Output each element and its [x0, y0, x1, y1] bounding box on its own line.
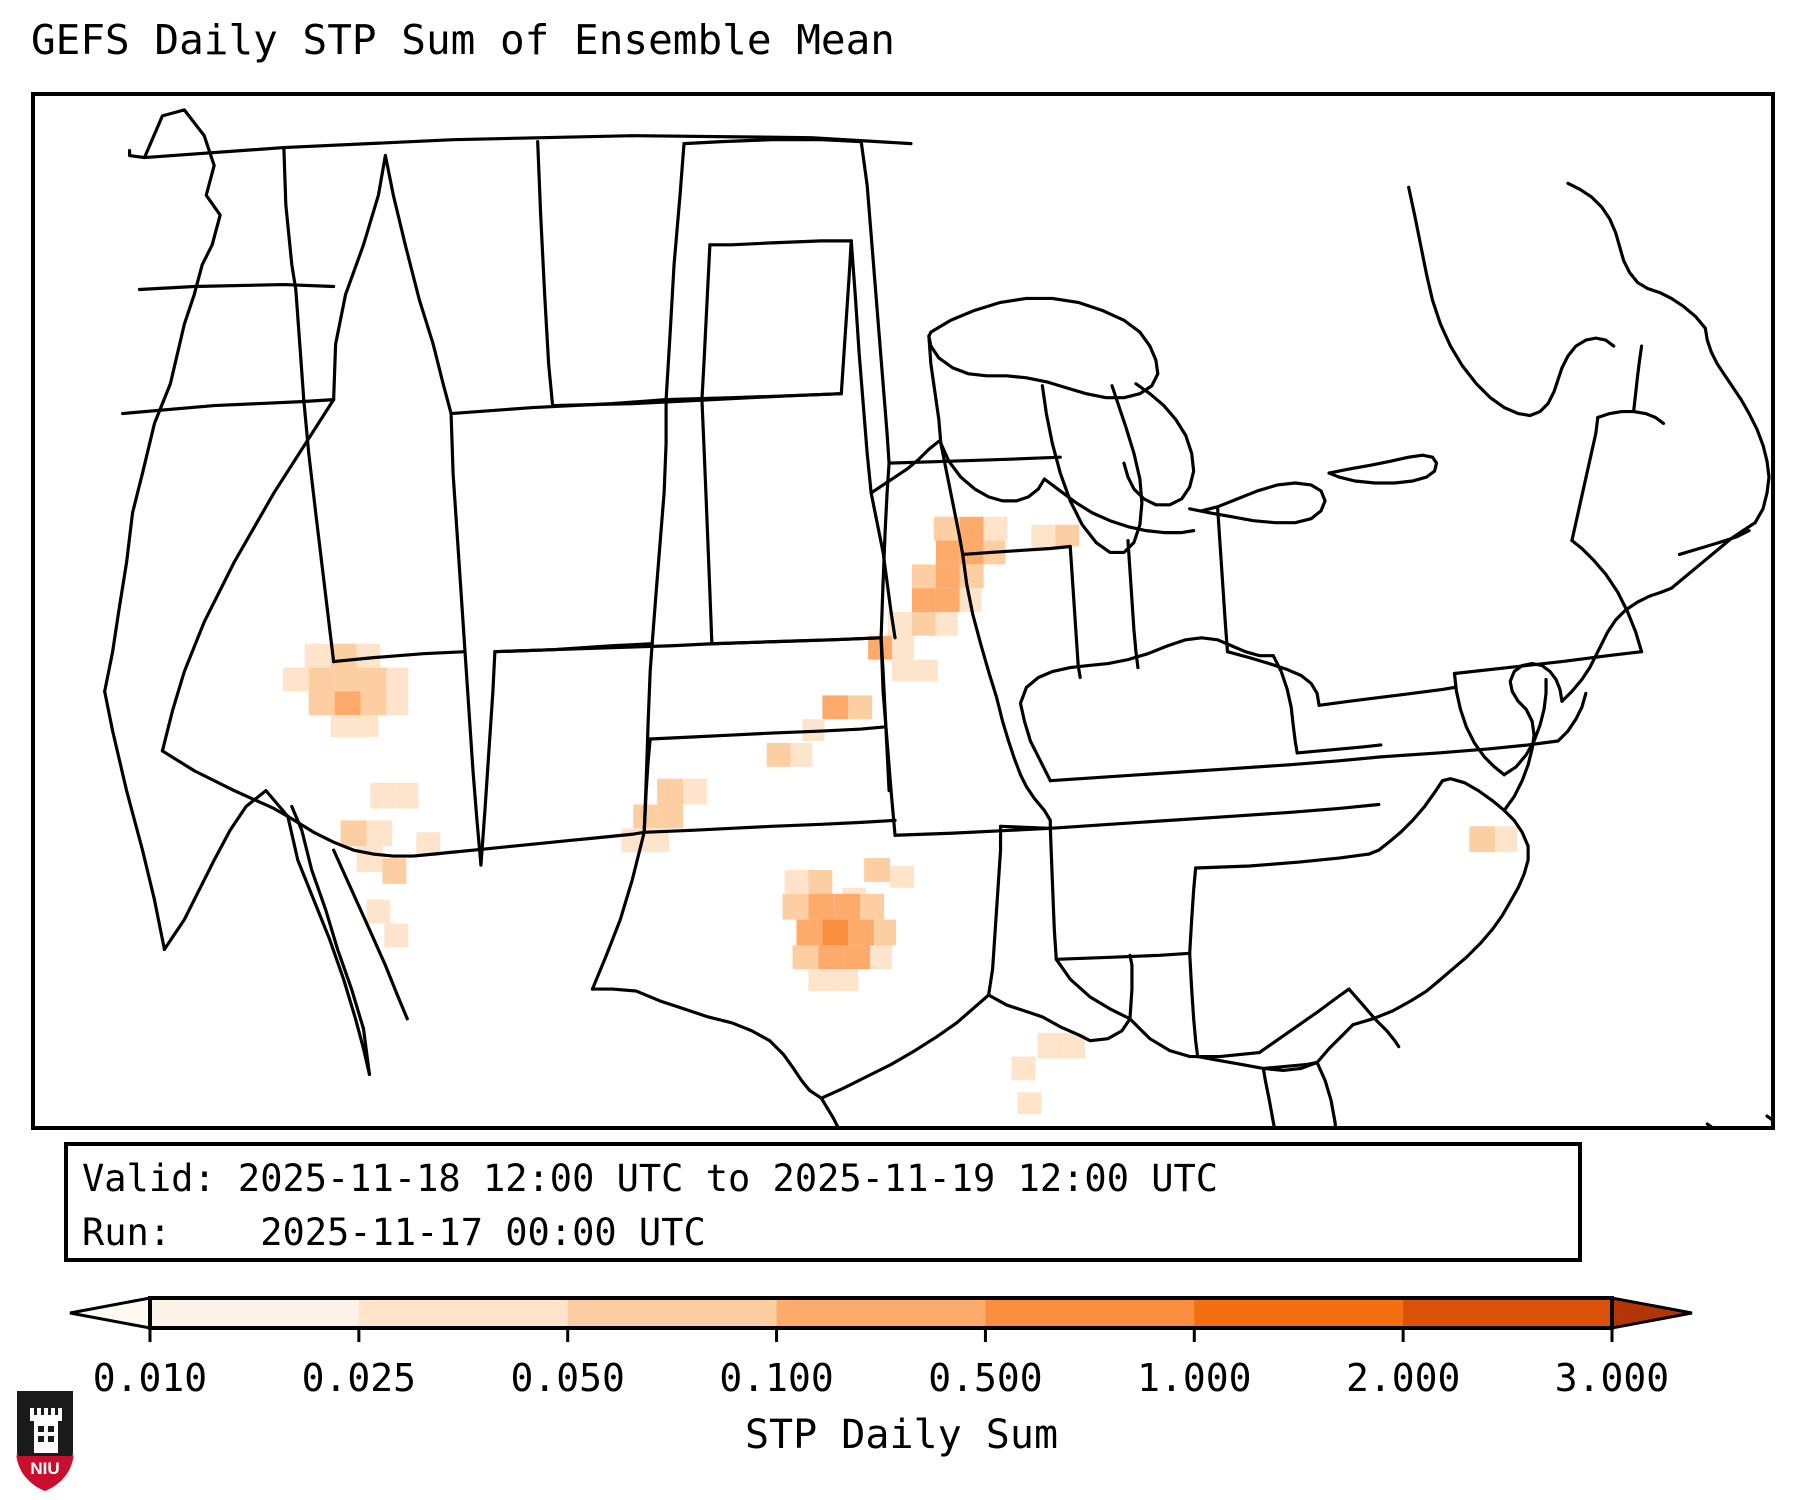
data-cell: [912, 588, 936, 612]
data-cell: [808, 870, 832, 894]
colorbar-extend-low: [70, 1298, 150, 1328]
colorbar: [0, 1290, 1803, 1350]
data-cell: [386, 691, 408, 715]
data-cell: [382, 858, 406, 884]
data-cell: [892, 660, 916, 682]
colorbar-label: STP Daily Sum: [0, 1412, 1803, 1458]
map-panel: [31, 92, 1775, 1130]
colorbar-band: [777, 1298, 986, 1328]
data-cell: [783, 894, 809, 920]
data-cell: [808, 894, 834, 920]
data-cell: [834, 969, 858, 991]
data-cell: [936, 588, 960, 612]
data-cell: [361, 668, 387, 692]
colorbar-tick-label: 0.100: [687, 1356, 867, 1400]
data-cell: [912, 612, 936, 636]
data-cell: [370, 783, 396, 809]
data-cell: [808, 969, 834, 991]
data-cell: [341, 820, 367, 846]
data-cell: [366, 900, 390, 924]
data-cell: [1037, 1033, 1063, 1059]
data-cell: [984, 517, 1008, 541]
data-cell: [834, 894, 860, 920]
niu-wordmark: NIU: [30, 1459, 59, 1478]
colorbar-tick-label: 3.000: [1522, 1356, 1702, 1400]
colorbar-svg: [0, 1290, 1803, 1352]
colorbar-band: [359, 1298, 568, 1328]
data-cell: [916, 660, 938, 682]
data-cell: [1055, 525, 1079, 547]
data-cell: [384, 924, 408, 948]
data-cell: [309, 668, 335, 692]
data-cell: [331, 715, 355, 737]
colorbar-band: [568, 1298, 777, 1328]
data-cell: [331, 644, 357, 668]
data-cell: [767, 743, 791, 767]
colorbar-tick-label: 2.000: [1313, 1356, 1493, 1400]
data-cell: [848, 695, 872, 719]
colorbar-extend-high: [1612, 1298, 1692, 1328]
data-cell: [860, 894, 884, 920]
data-cell: [1031, 525, 1055, 549]
page-title: GEFS Daily STP Sum of Ensemble Mean: [31, 16, 895, 64]
colorbar-band: [1194, 1298, 1403, 1328]
data-cell: [386, 668, 408, 692]
valid-time-line: Valid: 2025-11-18 12:00 UTC to 2025-11-1…: [82, 1152, 1564, 1206]
data-cell: [936, 564, 960, 588]
colorbar-band: [1403, 1298, 1612, 1328]
data-cell: [822, 695, 848, 719]
niu-logo: NIU: [14, 1388, 76, 1493]
data-cell: [936, 612, 958, 636]
data-cell: [335, 691, 361, 715]
colorbar-ticks: [150, 1328, 1612, 1342]
run-time-line: Run: 2025-11-17 00:00 UTC: [82, 1206, 1564, 1260]
data-cell: [785, 870, 809, 894]
map-svg: [35, 96, 1771, 1126]
colorbar-band: [985, 1298, 1194, 1328]
data-cell: [396, 783, 418, 809]
data-cell: [960, 517, 984, 541]
colorbar-bands: [70, 1298, 1692, 1328]
data-cell: [657, 779, 683, 805]
data-cell: [1469, 826, 1495, 852]
data-cell: [657, 804, 683, 828]
data-cell: [1012, 1057, 1036, 1081]
data-cell: [793, 945, 819, 969]
map-canvas: [35, 96, 1771, 1126]
data-cell: [366, 820, 392, 846]
data-cell: [1495, 826, 1517, 852]
data-cell: [912, 564, 936, 588]
data-cell: [357, 644, 381, 668]
data-cell: [890, 866, 914, 888]
data-cell: [936, 541, 960, 565]
data-cell: [1017, 1092, 1041, 1114]
data-cell: [355, 715, 379, 737]
data-cell: [683, 779, 707, 805]
data-cell: [309, 691, 335, 715]
data-cell: [283, 668, 309, 692]
colorbar-tick-label: 0.010: [60, 1356, 240, 1400]
data-cell: [818, 945, 844, 969]
data-cell: [822, 920, 848, 946]
data-cell: [874, 920, 896, 946]
data-cell: [848, 920, 874, 946]
colorbar-tick-label: 1.000: [1104, 1356, 1284, 1400]
data-cell-layer: [283, 517, 1517, 1114]
colorbar-tick-label: 0.500: [895, 1356, 1075, 1400]
data-cell: [870, 945, 892, 969]
valid-run-infobox: Valid: 2025-11-18 12:00 UTC to 2025-11-1…: [64, 1142, 1582, 1262]
data-cell: [361, 691, 387, 715]
data-cell: [864, 858, 890, 882]
data-cell: [892, 636, 914, 660]
data-cell: [796, 920, 822, 946]
data-cell: [844, 945, 870, 969]
colorbar-tick-label: 0.050: [478, 1356, 658, 1400]
data-cell: [305, 644, 331, 668]
niu-shield-icon: NIU: [14, 1388, 76, 1493]
colorbar-band: [150, 1298, 359, 1328]
data-cell: [791, 743, 813, 767]
colorbar-tick-label: 0.025: [269, 1356, 449, 1400]
data-cell: [335, 668, 361, 692]
